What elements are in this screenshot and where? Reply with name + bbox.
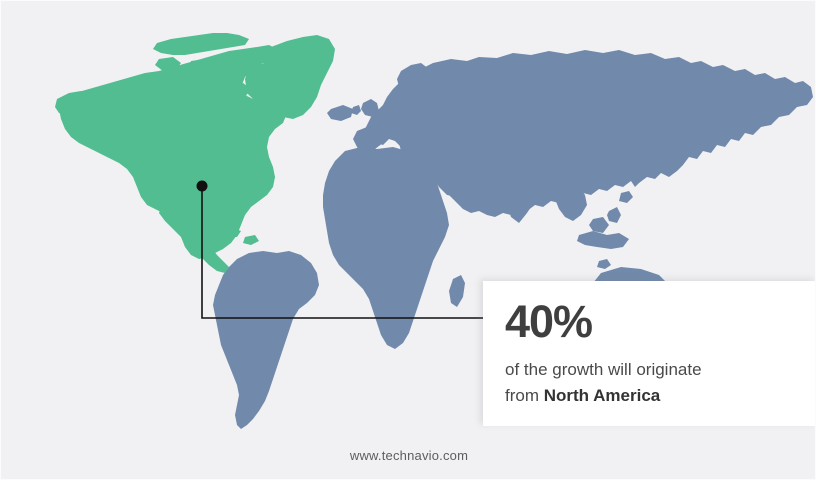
stat-description: of the growth will originate from North … <box>505 357 816 410</box>
stat-region-name: North America <box>544 386 661 405</box>
footer: www.technavio.com <box>1 447 816 465</box>
region-south-america <box>213 251 319 429</box>
region-japan-south <box>619 191 633 203</box>
infographic-root: 40% of the growth will originate from No… <box>0 0 816 480</box>
region-hispaniola <box>243 235 259 245</box>
callout-box: 40% of the growth will originate from No… <box>483 281 816 426</box>
region-pacific-islet <box>597 259 611 269</box>
stat-description-line2-prefix: from <box>505 386 544 405</box>
region-indonesia <box>577 231 629 249</box>
region-borneo <box>589 217 609 233</box>
region-india <box>501 165 541 223</box>
stat-description-line1: of the growth will originate <box>505 360 702 379</box>
region-philippines <box>607 207 621 223</box>
callout-content: 40% of the growth will originate from No… <box>483 281 816 410</box>
region-iceland <box>327 105 353 121</box>
region-madagascar <box>449 275 465 307</box>
source-url[interactable]: www.technavio.com <box>350 448 468 463</box>
region-africa <box>323 147 449 349</box>
stat-value: 40% <box>505 299 816 345</box>
